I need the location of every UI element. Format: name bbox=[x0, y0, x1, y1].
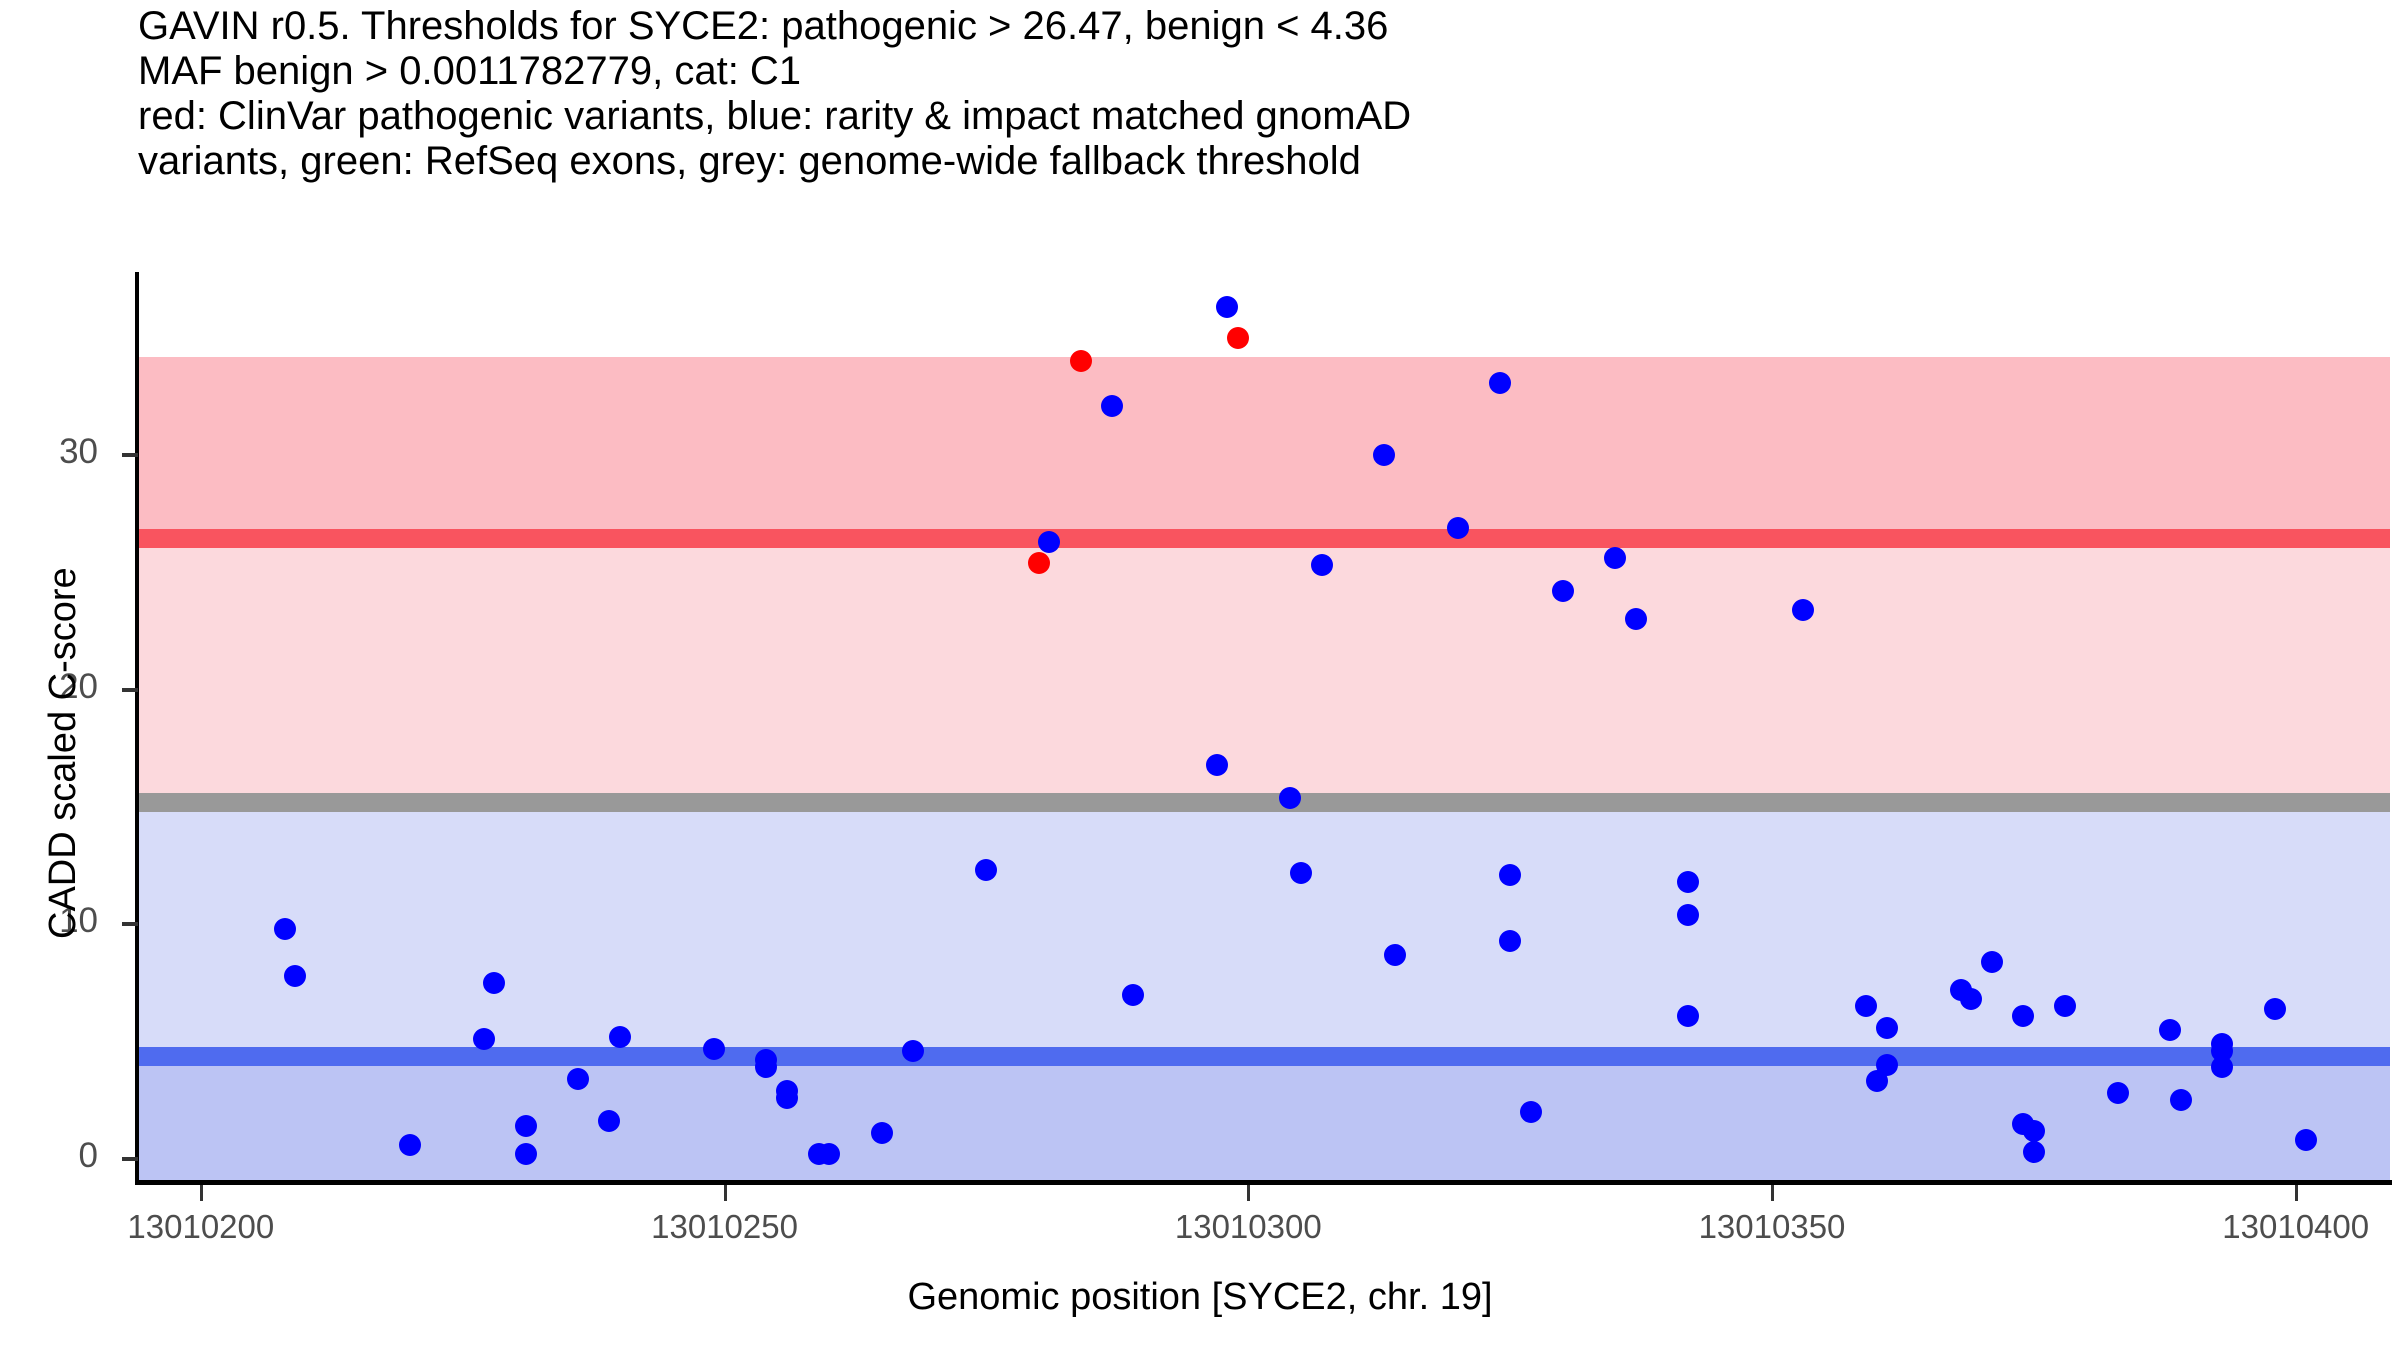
data-point-benign bbox=[1447, 517, 1469, 539]
data-point-pathogenic bbox=[1070, 350, 1092, 372]
threshold-line-1 bbox=[138, 1047, 2390, 1066]
data-point-benign bbox=[284, 965, 306, 987]
data-point-benign bbox=[1876, 1017, 1898, 1039]
y-tick-mark bbox=[122, 922, 138, 926]
threshold-line-0 bbox=[138, 529, 2390, 548]
chart-root: GAVIN r0.5. Thresholds for SYCE2: pathog… bbox=[0, 0, 2400, 1350]
data-point-benign bbox=[2170, 1089, 2192, 1111]
x-tick-mark bbox=[724, 1185, 727, 1201]
x-tick-mark bbox=[200, 1185, 203, 1201]
data-point-benign bbox=[1101, 395, 1123, 417]
plot-panel bbox=[138, 277, 2390, 1180]
data-point-benign bbox=[1122, 984, 1144, 1006]
data-point-benign bbox=[274, 918, 296, 940]
y-axis-label: CADD scaled C-score bbox=[42, 567, 85, 939]
data-point-benign bbox=[1279, 787, 1301, 809]
threshold-line-2 bbox=[138, 793, 2390, 812]
title-line-1: GAVIN r0.5. Thresholds for SYCE2: pathog… bbox=[138, 4, 2138, 49]
data-point-benign bbox=[902, 1040, 924, 1062]
data-point-benign bbox=[1520, 1101, 1542, 1123]
data-point-benign bbox=[2107, 1082, 2129, 1104]
y-tick-mark bbox=[122, 453, 138, 457]
x-tick-label: 13010300 bbox=[1118, 1208, 1378, 1246]
y-tick-mark bbox=[122, 688, 138, 692]
data-point-benign bbox=[2264, 998, 2286, 1020]
data-point-benign bbox=[1311, 554, 1333, 576]
data-point-benign bbox=[515, 1143, 537, 1165]
data-point-benign bbox=[1499, 930, 1521, 952]
x-tick-mark bbox=[1247, 1185, 1250, 1201]
data-point-benign bbox=[1206, 754, 1228, 776]
data-point-benign bbox=[1290, 862, 1312, 884]
y-axis-line bbox=[135, 272, 139, 1185]
data-point-benign bbox=[2023, 1120, 2045, 1142]
data-point-benign bbox=[2023, 1141, 2045, 1163]
data-point-pathogenic bbox=[1028, 552, 1050, 574]
x-tick-mark bbox=[1771, 1185, 1774, 1201]
threshold-band-0 bbox=[138, 357, 2390, 538]
title-line-2: MAF benign > 0.0011782779, cat: C1 bbox=[138, 49, 2138, 94]
title-line-4: variants, green: RefSeq exons, grey: gen… bbox=[138, 139, 2138, 184]
threshold-band-2 bbox=[138, 802, 2390, 1056]
data-point-benign bbox=[1552, 580, 1574, 602]
data-point-benign bbox=[871, 1122, 893, 1144]
x-axis-line bbox=[136, 1180, 2392, 1185]
data-point-benign bbox=[473, 1028, 495, 1050]
threshold-band-3 bbox=[138, 1057, 2390, 1180]
data-point-pathogenic bbox=[1227, 327, 1249, 349]
data-point-benign bbox=[1384, 944, 1406, 966]
data-point-benign bbox=[515, 1115, 537, 1137]
data-point-benign bbox=[2159, 1019, 2181, 1041]
data-point-benign bbox=[609, 1026, 631, 1048]
threshold-band-1 bbox=[138, 538, 2390, 802]
y-tick-label: 0 bbox=[0, 1136, 98, 1176]
x-tick-label: 13010200 bbox=[71, 1208, 331, 1246]
data-point-benign bbox=[1677, 1005, 1699, 1027]
x-tick-label: 13010350 bbox=[1642, 1208, 1902, 1246]
data-point-benign bbox=[703, 1038, 725, 1060]
data-point-benign bbox=[1677, 904, 1699, 926]
data-point-benign bbox=[567, 1068, 589, 1090]
x-tick-label: 13010400 bbox=[2166, 1208, 2400, 1246]
y-tick-mark bbox=[122, 1157, 138, 1161]
chart-title: GAVIN r0.5. Thresholds for SYCE2: pathog… bbox=[138, 4, 2138, 184]
y-tick-label: 30 bbox=[0, 432, 98, 472]
data-point-benign bbox=[1489, 372, 1511, 394]
data-point-benign bbox=[1981, 951, 2003, 973]
data-point-benign bbox=[483, 972, 505, 994]
data-point-benign bbox=[399, 1134, 421, 1156]
x-tick-label: 13010250 bbox=[595, 1208, 855, 1246]
x-tick-mark bbox=[2295, 1185, 2298, 1201]
data-point-benign bbox=[1216, 296, 1238, 318]
x-axis-label: Genomic position [SYCE2, chr. 19] bbox=[0, 1276, 2400, 1319]
title-line-3: red: ClinVar pathogenic variants, blue: … bbox=[138, 94, 2138, 139]
